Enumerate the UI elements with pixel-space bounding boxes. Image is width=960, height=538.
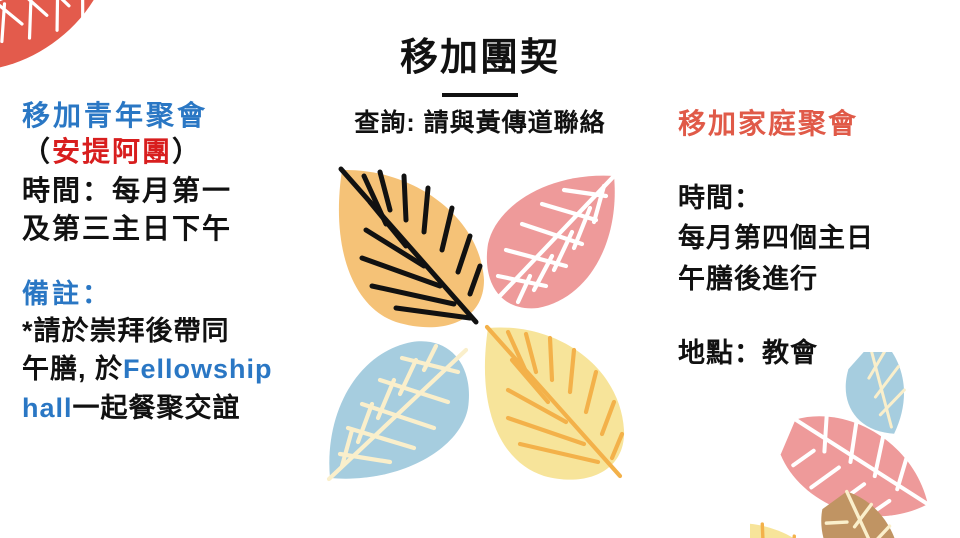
left-column: 移加青年聚會 （安提阿團） 時間：每月第一 及第三主日下午 備註： *請於崇拜後… [22,98,322,427]
right-column-heading: 移加家庭聚會 [678,108,948,142]
left-note-hall-text: hall [22,393,73,423]
page-title: 移加團契 [290,38,670,80]
slide-canvas: 移加團契 查詢: 請與黃傳道聯絡 移加青年聚會 （安提阿團） 時間：每月第一 及… [0,0,960,538]
left-note-line-3: hall一起餐聚交誼 [22,389,322,427]
left-subheading-paren-close: ） [172,136,202,167]
left-note-fellowship-text: Fellowship [123,354,273,384]
left-column-heading: 移加青年聚會 [22,98,322,133]
left-note-heading: 備註： [22,277,322,312]
left-time-line-2: 及第三主日下午 [22,210,322,249]
left-column-subheading: （安提阿團） [22,133,322,172]
left-subheading-inner: 安提阿團 [52,136,172,167]
title-block: 移加團契 查詢: 請與黃傳道聯絡 [290,38,670,139]
title-subtitle: 查詢: 請與黃傳道聯絡 [290,103,670,139]
right-location-line: 地點：教會 [678,333,948,374]
right-time-line-1: 每月第四個主日 [678,218,948,259]
center-leaf-illustration [318,152,640,490]
right-location-block: 地點：教會 [678,333,948,374]
left-note-line-2: 午膳, 於Fellowship [22,350,322,388]
bottom-right-leaf-decoration [750,352,960,538]
left-note-body: *請於崇拜後帶同 午膳, 於Fellowship hall一起餐聚交誼 [22,312,322,427]
left-subheading-paren-open: （ [22,136,52,167]
right-time-line-2: 午膳後進行 [678,259,948,300]
left-note-line-2-text: 午膳, 於 [22,354,123,384]
right-column: 移加家庭聚會 時間： 每月第四個主日 午膳後進行 地點：教會 [678,108,948,374]
right-time-block: 時間： 每月第四個主日 午膳後進行 [678,178,948,300]
left-note-line-1: *請於崇拜後帶同 [22,312,322,350]
title-divider [442,93,518,97]
left-time-line-1: 時間：每月第一 [22,172,322,211]
left-note-line-3-text: 一起餐聚交誼 [73,393,241,423]
multi-leaf-icon [750,352,960,538]
four-leaf-pinwheel-icon [318,152,640,490]
right-time-label: 時間： [678,178,948,219]
